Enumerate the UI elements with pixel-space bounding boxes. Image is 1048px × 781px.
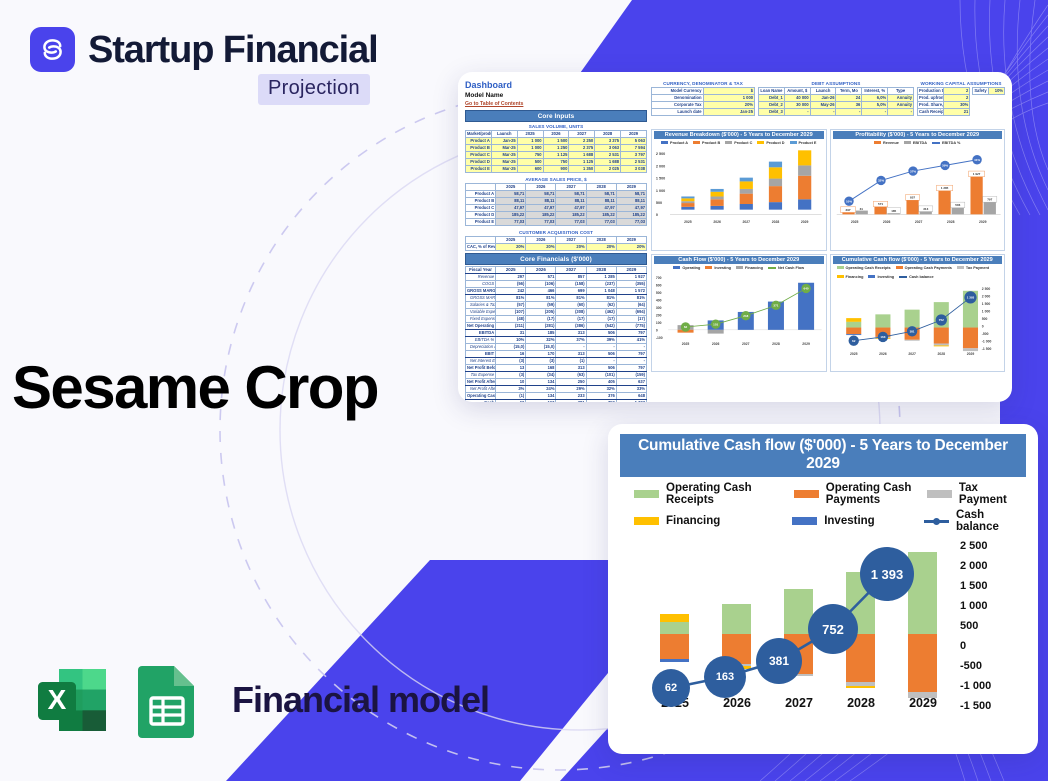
cell: -: [586, 344, 616, 351]
cell: 10%: [496, 337, 526, 344]
cell: 47,97: [526, 205, 556, 212]
col-header: Interest, %: [862, 88, 888, 95]
table-row: Revenue2975718571 2851 927: [466, 274, 647, 281]
svg-text:2029: 2029: [966, 352, 974, 356]
dashboard-right-column: CURRENCY, DENOMINATOR & TAX Model Curren…: [651, 80, 1005, 394]
cell: (205): [526, 309, 556, 316]
svg-text:41%: 41%: [974, 158, 980, 162]
cell: 797: [616, 351, 646, 358]
col-header: Term, Mo: [836, 88, 862, 95]
debt-assumptions-block: DEBT ASSUMPTIONS Loan Name Amount, $ Lau…: [758, 80, 914, 126]
svg-text:400: 400: [656, 298, 662, 302]
cell: 47,97: [556, 205, 586, 212]
cell: (775): [616, 323, 646, 330]
col-header: 2025: [517, 131, 543, 138]
cell: 58,71: [586, 191, 616, 198]
core-financials-band: Core Financials ($'000): [465, 253, 647, 265]
row-label: Net Interest Expense: [466, 358, 496, 365]
cell: 58,71: [556, 191, 586, 198]
avg-price-caption: AVERAGE SALES PRICE, $: [465, 176, 647, 183]
brand-header: Startup Financial: [30, 27, 378, 72]
svg-text:163: 163: [880, 335, 885, 339]
col-header: 2027: [556, 237, 586, 244]
cac-table: 2025 2026 2027 2028 2029 CAC, % of Reven…: [465, 236, 647, 251]
legend-item-operating-cash-receipts: Operating Cash Receipts: [634, 482, 794, 506]
svg-text:32%: 32%: [878, 179, 884, 183]
cell: 47,97: [496, 205, 526, 212]
svg-text:752: 752: [938, 318, 943, 322]
mini-chart-title: Cash Flow ($'000) - 5 Years to December …: [654, 256, 824, 264]
table-row: Depreciation & Amortization(15,0)(15,0)-…: [466, 344, 647, 351]
cell: Product A: [466, 138, 492, 145]
table-row: Debt_1 40 000 Jan-26 24 6,0% Annuity: [759, 95, 914, 102]
cell: 81%: [496, 295, 526, 302]
cash-flow-plot: 700600500400 3002001000 -100: [654, 271, 824, 351]
svg-text:1 285: 1 285: [940, 186, 948, 190]
cell: Product B: [466, 198, 496, 205]
cell: (211): [496, 323, 526, 330]
cell: 77,03: [526, 219, 556, 226]
cell: 30 000: [784, 102, 810, 109]
cell: 20%: [616, 244, 646, 251]
mini-chart-title: Profitability ($'000) - 5 Years to Decem…: [833, 131, 1003, 139]
cell: Corporate Tax: [652, 102, 704, 109]
y-tick: -1 500: [960, 700, 1022, 712]
cell: 797: [616, 365, 646, 372]
cell: 2 025: [595, 166, 621, 173]
cell: 857: [556, 274, 586, 281]
cell: Product C: [466, 152, 492, 159]
y-tick: 0: [960, 640, 1022, 652]
cell: 29%: [556, 386, 586, 393]
cell: (281): [526, 323, 556, 330]
svg-text:600: 600: [656, 283, 662, 287]
cell: Jan-25: [491, 138, 517, 145]
svg-text:2027: 2027: [914, 220, 922, 224]
table-row: Product C 47,97 47,97 47,97 47,97 47,97: [466, 205, 647, 212]
cell: Product E: [466, 166, 492, 173]
y-tick: 2 000: [960, 560, 1022, 572]
cell: 81%: [556, 295, 586, 302]
svg-text:500: 500: [656, 201, 662, 205]
cell: 313: [556, 365, 586, 372]
brand-subtitle: Projection: [258, 74, 370, 105]
cell: 1 000: [517, 138, 543, 145]
svg-text:2 000: 2 000: [981, 294, 990, 298]
cell: 313: [556, 330, 586, 337]
row-label: Cash: [466, 400, 496, 403]
row-label: EBITDA: [466, 330, 496, 337]
cell: 77,03: [496, 219, 526, 226]
legend-item: Investing: [868, 275, 894, 279]
legend-item-investing: Investing: [792, 509, 924, 533]
y-tick: -1 000: [960, 680, 1022, 692]
cell: 2: [944, 88, 970, 95]
cell: 58,71: [616, 191, 646, 198]
average-price-table: 2025 2026 2027 2028 2029 Product A 58,71…: [465, 183, 647, 226]
mini-chart-profitability[interactable]: Profitability ($'000) - 5 Years to Decem…: [830, 129, 1006, 251]
cell: 47,97: [616, 205, 646, 212]
svg-text:2029: 2029: [801, 220, 809, 224]
cell: 88,11: [586, 198, 616, 205]
cell: 5 063: [621, 138, 647, 145]
model-name-label: Model Name: [465, 91, 647, 100]
cell: Mar-25: [491, 152, 517, 159]
cell: 797: [616, 330, 646, 337]
table-row: Product A Jan-25 1 000 1 500 2 250 3 375…: [466, 138, 647, 145]
cell: (1): [556, 358, 586, 365]
cell: 41%: [616, 337, 646, 344]
cell: Annuity: [888, 95, 914, 102]
cell: 185,22: [586, 212, 616, 219]
cell: 1 000: [703, 95, 755, 102]
svg-text:2026: 2026: [882, 220, 890, 224]
cell: (64): [616, 302, 646, 309]
col-header: 2025: [496, 267, 526, 274]
cell: (17): [556, 316, 586, 323]
table-row: Fixed Expenses(48)(17)(17)(17)(17): [466, 316, 647, 323]
legend-item-operating-cash-payments: Operating Cash Payments: [794, 482, 927, 506]
cell: 242: [496, 288, 526, 295]
cell: 1 250: [543, 145, 569, 152]
cell: 21: [944, 109, 970, 116]
revenue-breakdown-plot: 2 5002 0001 500 1 0005000: [654, 146, 824, 230]
cell: (107): [496, 309, 526, 316]
cell: (48): [496, 316, 526, 323]
col-header: 2026: [543, 131, 569, 138]
y-tick: 500: [960, 620, 1022, 632]
cell: 24%: [526, 386, 556, 393]
row-label: EBITDA %: [466, 337, 496, 344]
cell: Model Currency: [652, 88, 704, 95]
legend-item-financing: Financing: [634, 509, 792, 533]
row-label: Revenue: [466, 274, 496, 281]
svg-text:0: 0: [656, 213, 658, 217]
cell: 2: [944, 95, 970, 102]
cell: Product D: [466, 159, 492, 166]
cell: 500: [517, 159, 543, 166]
cell: (1): [496, 393, 526, 400]
cell: 31: [496, 330, 526, 337]
cell: 134: [526, 393, 556, 400]
cell: 1 688: [595, 159, 621, 166]
sales-volume-caption: SALES VOLUME, UNITS: [465, 123, 647, 130]
svg-text:640: 640: [804, 286, 809, 290]
svg-text:797: 797: [987, 197, 992, 201]
col-header: Loan Name: [759, 88, 785, 95]
cell: 466: [526, 288, 556, 295]
cell: Annuity: [888, 102, 914, 109]
svg-text:2025: 2025: [684, 220, 692, 224]
chart-legend: Operating Cash Receipts Operating Cash P…: [620, 477, 1026, 538]
cell: -: [586, 358, 616, 365]
cell: 33%: [616, 386, 646, 393]
svg-text:2025: 2025: [849, 352, 857, 356]
table-of-contents-link[interactable]: Go to Table of Contents: [465, 100, 647, 108]
svg-text:500: 500: [656, 291, 662, 295]
cell: 600: [517, 166, 543, 173]
cell: Launch date: [652, 109, 704, 116]
row-label: Net Profit After Tax: [466, 379, 496, 386]
cell: 1 350: [569, 166, 595, 173]
col-header: Amount, $: [784, 88, 810, 95]
cell: (106): [526, 281, 556, 288]
cell: (159): [616, 372, 646, 379]
cell: (17): [526, 316, 556, 323]
cell: (355): [616, 281, 646, 288]
svg-text:218: 218: [743, 314, 748, 318]
mini-chart-revenue-breakdown[interactable]: Revenue Breakdown ($'000) - 5 Years to D…: [651, 129, 827, 251]
cell: 1 572: [616, 288, 646, 295]
col-header: 2028: [595, 131, 621, 138]
cell: Product E: [466, 219, 496, 226]
col-header: 2027: [569, 131, 595, 138]
table-row: EBITDA %10%32%37%39%41%: [466, 337, 647, 344]
cell: -: [810, 109, 836, 116]
cell: 376: [586, 393, 616, 400]
legend-item: Tax Payment: [957, 266, 989, 270]
svg-text:2027: 2027: [742, 342, 750, 346]
cell: 506: [586, 365, 616, 372]
chart-title: Cumulative Cash flow ($'000) - 5 Years t…: [620, 434, 1026, 477]
cell: 185: [526, 330, 556, 337]
google-sheets-icon: [132, 660, 202, 740]
svg-text:371: 371: [773, 303, 778, 307]
cell: 185,22: [526, 212, 556, 219]
cell: (101): [586, 372, 616, 379]
svg-text:297: 297: [845, 208, 850, 212]
legend-label: Financing: [666, 515, 720, 527]
cell: 2 375: [569, 145, 595, 152]
legend-item: Operating Cash Payments: [896, 266, 952, 270]
mini-chart-legend: Operating Cash Receipts Operating Cash P…: [833, 264, 1003, 280]
svg-text:-1 500: -1 500: [981, 347, 991, 351]
cell: 637: [616, 379, 646, 386]
mini-chart-cash-flow[interactable]: Cash Flow ($'000) - 5 Years to December …: [651, 254, 827, 372]
row-label: Variable Expenses: [466, 309, 496, 316]
legend-label: Tax Payment: [959, 482, 1024, 506]
cell: 1 500: [543, 138, 569, 145]
cell: 163: [526, 400, 556, 403]
legend-item: Product D: [757, 141, 784, 145]
table-row: GROSS MARGIN2424666991 0481 572: [466, 288, 647, 295]
svg-text:2 000: 2 000: [656, 164, 665, 168]
svg-text:313: 313: [923, 207, 928, 211]
cell: 381: [556, 400, 586, 403]
svg-text:185: 185: [891, 209, 896, 213]
cell: Mar-25: [491, 145, 517, 152]
cell: -: [888, 109, 914, 116]
cell: 36: [836, 102, 862, 109]
svg-text:-100: -100: [656, 336, 663, 340]
currency-assumptions-block: CURRENCY, DENOMINATOR & TAX Model Curren…: [651, 80, 755, 126]
cac-caption: CUSTOMER ACQUISITION COST: [465, 229, 647, 236]
cell: 58,71: [496, 191, 526, 198]
cell: 20%: [556, 244, 586, 251]
dashboard-left-column: Dashboard Model Name Go to Table of Cont…: [465, 80, 647, 394]
cell: 1 125: [543, 152, 569, 159]
cumulative-cashflow-chart-card[interactable]: Cumulative Cash flow ($'000) - 5 Years t…: [608, 424, 1038, 754]
table-row: Product B 88,11 88,11 88,11 88,11 88,11: [466, 198, 647, 205]
col-header: Launch: [810, 88, 836, 95]
cell: 1 285: [586, 274, 616, 281]
y-tick: 1 000: [960, 600, 1022, 612]
svg-text:1 500: 1 500: [981, 302, 990, 306]
chart-plot-area: 2 500 2 000 1 500 1 000 500 0 -500 -1 00…: [626, 544, 1026, 740]
cell: -: [862, 109, 888, 116]
svg-text:1 000: 1 000: [981, 309, 990, 313]
data-node-2029: 1 393: [860, 547, 914, 601]
cell: 506: [586, 351, 616, 358]
cell: 40 000: [784, 95, 810, 102]
legend-item: Product B: [693, 141, 720, 145]
svg-text:62: 62: [852, 339, 856, 343]
col-header: 2028: [586, 184, 616, 191]
cell: Prod. Share, %: [918, 102, 944, 109]
cell: 77,03: [556, 219, 586, 226]
svg-text:1 000: 1 000: [656, 189, 665, 193]
table-row: Product D 185,22 185,22 185,22 185,22 18…: [466, 212, 647, 219]
cell: (17): [586, 316, 616, 323]
cell: 900: [543, 166, 569, 173]
cell: Product B: [466, 145, 492, 152]
row-label: Salaries & Taxes: [466, 302, 496, 309]
cell: 20%: [703, 102, 755, 109]
cell: -: [836, 109, 862, 116]
cell: Product C: [466, 205, 496, 212]
cell: Mar-25: [491, 159, 517, 166]
cell: (158): [556, 281, 586, 288]
core-financials-table: Fiscal Year20252026202720282029Revenue29…: [465, 266, 647, 402]
legend-item-tax-payment: Tax Payment: [927, 482, 1024, 506]
cell: -: [784, 109, 810, 116]
cell: 233: [556, 393, 586, 400]
cell: 20%: [526, 244, 556, 251]
cell: Jan-26: [810, 95, 836, 102]
svg-text:37%: 37%: [910, 169, 916, 173]
col-header: 2028: [586, 267, 616, 274]
cell: -: [616, 344, 646, 351]
col-header: 2029: [616, 267, 646, 274]
svg-text:2028: 2028: [772, 220, 780, 224]
svg-text:571: 571: [878, 202, 883, 206]
row-label: COGS: [466, 281, 496, 288]
svg-text:39%: 39%: [942, 163, 948, 167]
dashboard-screenshot-card[interactable]: Dashboard Model Name Go to Table of Cont…: [458, 72, 1012, 402]
svg-text:-1 000: -1 000: [981, 339, 991, 343]
cell: 81%: [526, 295, 556, 302]
svg-text:2029: 2029: [802, 342, 810, 346]
sales-volume-table: Market/product Launch 2025 2026 2027 202…: [465, 130, 647, 173]
legend-item: Product E: [790, 141, 817, 145]
cell: (3): [526, 358, 556, 365]
cell: 185,22: [616, 212, 646, 219]
legend-item: Operating Cash Receipts: [837, 266, 891, 270]
cell: 20%: [586, 244, 616, 251]
legend-item: Cash balance: [899, 275, 933, 279]
cell: Safety Stock, %: [973, 88, 989, 95]
svg-text:2 500: 2 500: [656, 152, 665, 156]
table-row: COGS(56)(106)(158)(237)(355): [466, 281, 647, 288]
svg-text:500: 500: [981, 317, 987, 321]
cell: 37%: [556, 337, 586, 344]
cell: Product D: [466, 212, 496, 219]
col-header: 2025: [496, 237, 526, 244]
cell: (542): [586, 323, 616, 330]
cell: (386): [556, 323, 586, 330]
working-capital-block: WORKING CAPITAL ASSUMPTIONS Production t…: [917, 80, 1005, 126]
cell: 30%: [944, 102, 970, 109]
col-header: 2026: [526, 267, 556, 274]
legend-item: EBITDA: [904, 141, 927, 145]
col-header: 2027: [556, 267, 586, 274]
svg-text:1 927: 1 927: [972, 172, 980, 176]
svg-text:2027: 2027: [908, 352, 916, 356]
table-row: Product E Mar-25 600 900 1 350 2 025 3 0…: [466, 166, 647, 173]
table-row: Cash621633817521 393: [466, 400, 647, 403]
cell: 13: [496, 365, 526, 372]
svg-text:300: 300: [656, 306, 662, 310]
cell: -: [616, 358, 646, 365]
cell: (56): [496, 281, 526, 288]
svg-text:700: 700: [656, 276, 662, 280]
cell: Product A: [466, 191, 496, 198]
cell: (694): [616, 309, 646, 316]
cell: Jan-25: [703, 109, 755, 116]
cell: (15,0): [496, 344, 526, 351]
cell: CAC, % of Revenue: [466, 244, 496, 251]
col-header: 2025: [496, 184, 526, 191]
col-header: Fiscal Year: [466, 267, 496, 274]
mini-chart-cumulative-cash-flow[interactable]: Cumulative Cash flow ($'000) - 5 Years t…: [830, 254, 1006, 372]
cell: 81%: [586, 295, 616, 302]
cell: (15,0): [526, 344, 556, 351]
data-node-2025: 62: [652, 669, 690, 707]
cell: 1 688: [569, 152, 595, 159]
cell: 3 063: [595, 145, 621, 152]
col-header: Launch: [491, 131, 517, 138]
cell: Denomination: [652, 95, 704, 102]
cell: 81%: [616, 295, 646, 302]
cell: 699: [556, 288, 586, 295]
cell: 1 048: [586, 288, 616, 295]
cell: 10: [496, 379, 526, 386]
cell: 1 927: [616, 274, 646, 281]
table-row: Operating Cash Flows(1)134233376648: [466, 393, 647, 400]
table-row: Tax Expense(3)(34)(63)(101)(159): [466, 372, 647, 379]
cell: 571: [526, 274, 556, 281]
cell: $: [703, 88, 755, 95]
cell: 170: [526, 351, 556, 358]
legend-item: Investing: [705, 266, 731, 270]
svg-text:2 500: 2 500: [981, 287, 990, 291]
cell: 1 125: [569, 159, 595, 166]
cell: 750: [543, 159, 569, 166]
cell: 297: [496, 274, 526, 281]
cell: 250: [556, 379, 586, 386]
legend-label: Operating Cash Receipts: [666, 482, 794, 506]
profitability-plot: 10%32%37% 39%41% 297 31 571 185 857 313 …: [833, 146, 1003, 230]
cell: -: [556, 344, 586, 351]
svg-text:2028: 2028: [946, 220, 954, 224]
y-tick: 2 500: [960, 540, 1022, 552]
legend-item: Product A: [661, 141, 688, 145]
y-tick: 1 500: [960, 580, 1022, 592]
svg-text:857: 857: [910, 196, 915, 200]
table-row: GROSS MARGIN %81%81%81%81%81%: [466, 295, 647, 302]
cell: (34): [526, 372, 556, 379]
cell: 5,0%: [862, 102, 888, 109]
